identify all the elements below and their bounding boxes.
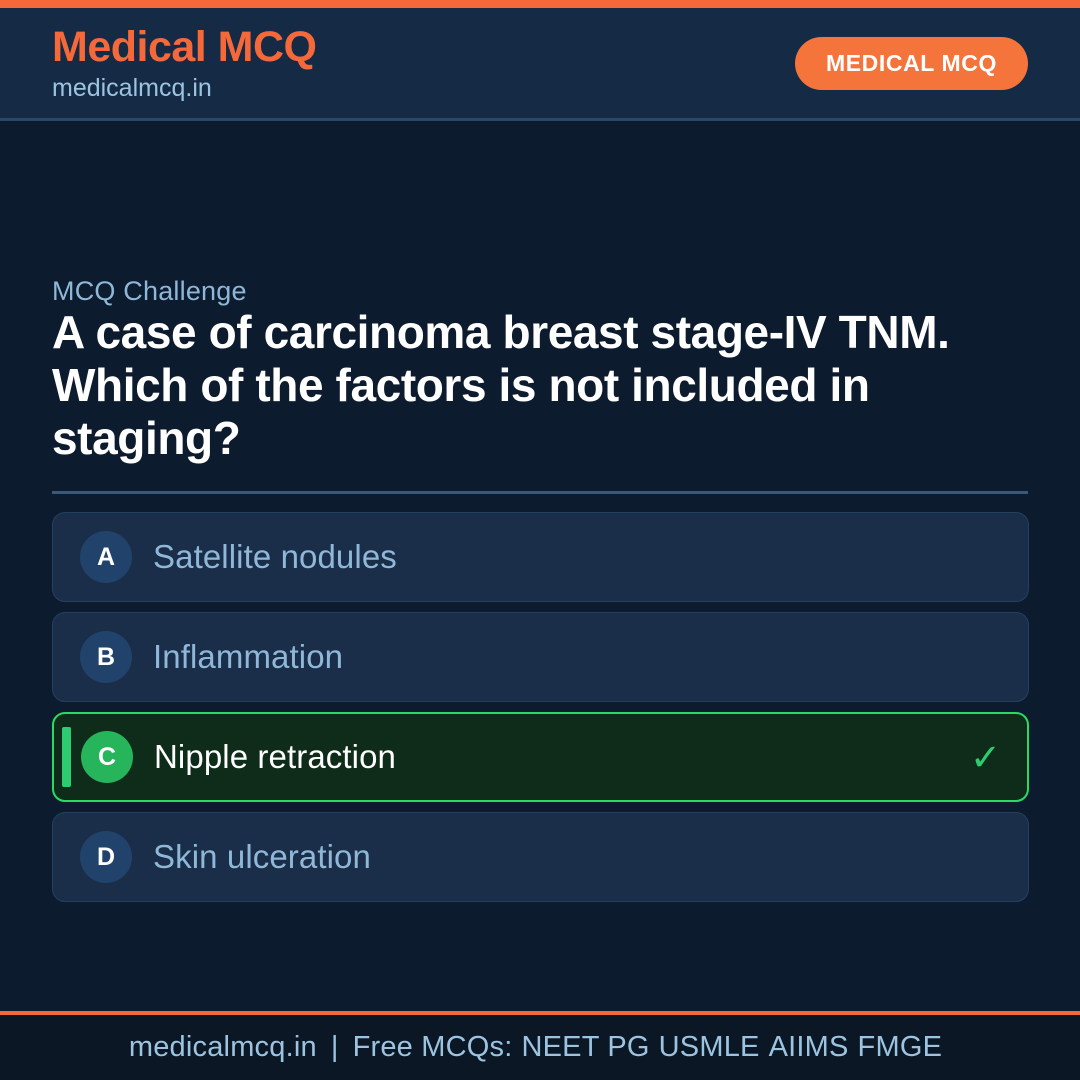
footer-exam-neetpg: NEET PG xyxy=(521,1031,658,1063)
option-label: Skin ulceration xyxy=(153,838,371,876)
footer-exam-fmge: FMGE xyxy=(858,1031,952,1063)
option-row-d[interactable]: D Skin ulceration ✓ xyxy=(52,812,1029,902)
correct-accent-bar xyxy=(62,727,71,787)
option-row-c[interactable]: C Nipple retraction ✓ xyxy=(52,712,1029,802)
footer-exams-label: Free MCQs: xyxy=(353,1031,522,1063)
brand-subtitle: medicalmcq.in xyxy=(52,76,317,101)
option-label: Nipple retraction xyxy=(154,738,396,776)
header-bar: Medical MCQ medicalmcq.in MEDICAL MCQ xyxy=(0,8,1080,121)
option-label: Satellite nodules xyxy=(153,538,397,576)
option-letter-badge: A xyxy=(80,531,132,583)
option-letter-badge: D xyxy=(80,831,132,883)
option-letter-badge: C xyxy=(81,731,133,783)
header-badge: MEDICAL MCQ xyxy=(795,37,1028,90)
brand-block: Medical MCQ medicalmcq.in xyxy=(52,26,317,101)
footer-separator: | xyxy=(317,1031,353,1063)
footer-bar: medicalmcq.in|Free MCQs:NEET PGUSMLEAIIM… xyxy=(0,1011,1080,1080)
option-label: Inflammation xyxy=(153,638,343,676)
top-accent-strip xyxy=(0,0,1080,8)
brand-title: Medical MCQ xyxy=(52,26,317,69)
footer-exam-usmle: USMLE xyxy=(659,1031,769,1063)
kicker-label: MCQ Challenge xyxy=(52,276,247,307)
question-text: A case of carcinoma breast stage-IV TNM.… xyxy=(52,306,1038,465)
option-row-a[interactable]: A Satellite nodules ✓ xyxy=(52,512,1029,602)
footer-text: medicalmcq.in|Free MCQs:NEET PGUSMLEAIIM… xyxy=(129,1031,951,1064)
check-icon: ✓ xyxy=(970,739,1001,776)
mcq-card: Medical MCQ medicalmcq.in MEDICAL MCQ MC… xyxy=(0,0,1080,1080)
footer-site[interactable]: medicalmcq.in xyxy=(129,1031,317,1063)
main-content: MCQ Challenge A case of carcinoma breast… xyxy=(0,121,1080,1011)
question-divider xyxy=(52,491,1028,494)
option-letter-badge: B xyxy=(80,631,132,683)
options-list: A Satellite nodules ✓ B Inflammation ✓ C… xyxy=(52,512,1029,902)
option-row-b[interactable]: B Inflammation ✓ xyxy=(52,612,1029,702)
footer-exam-aiims: AIIMS xyxy=(769,1031,858,1063)
